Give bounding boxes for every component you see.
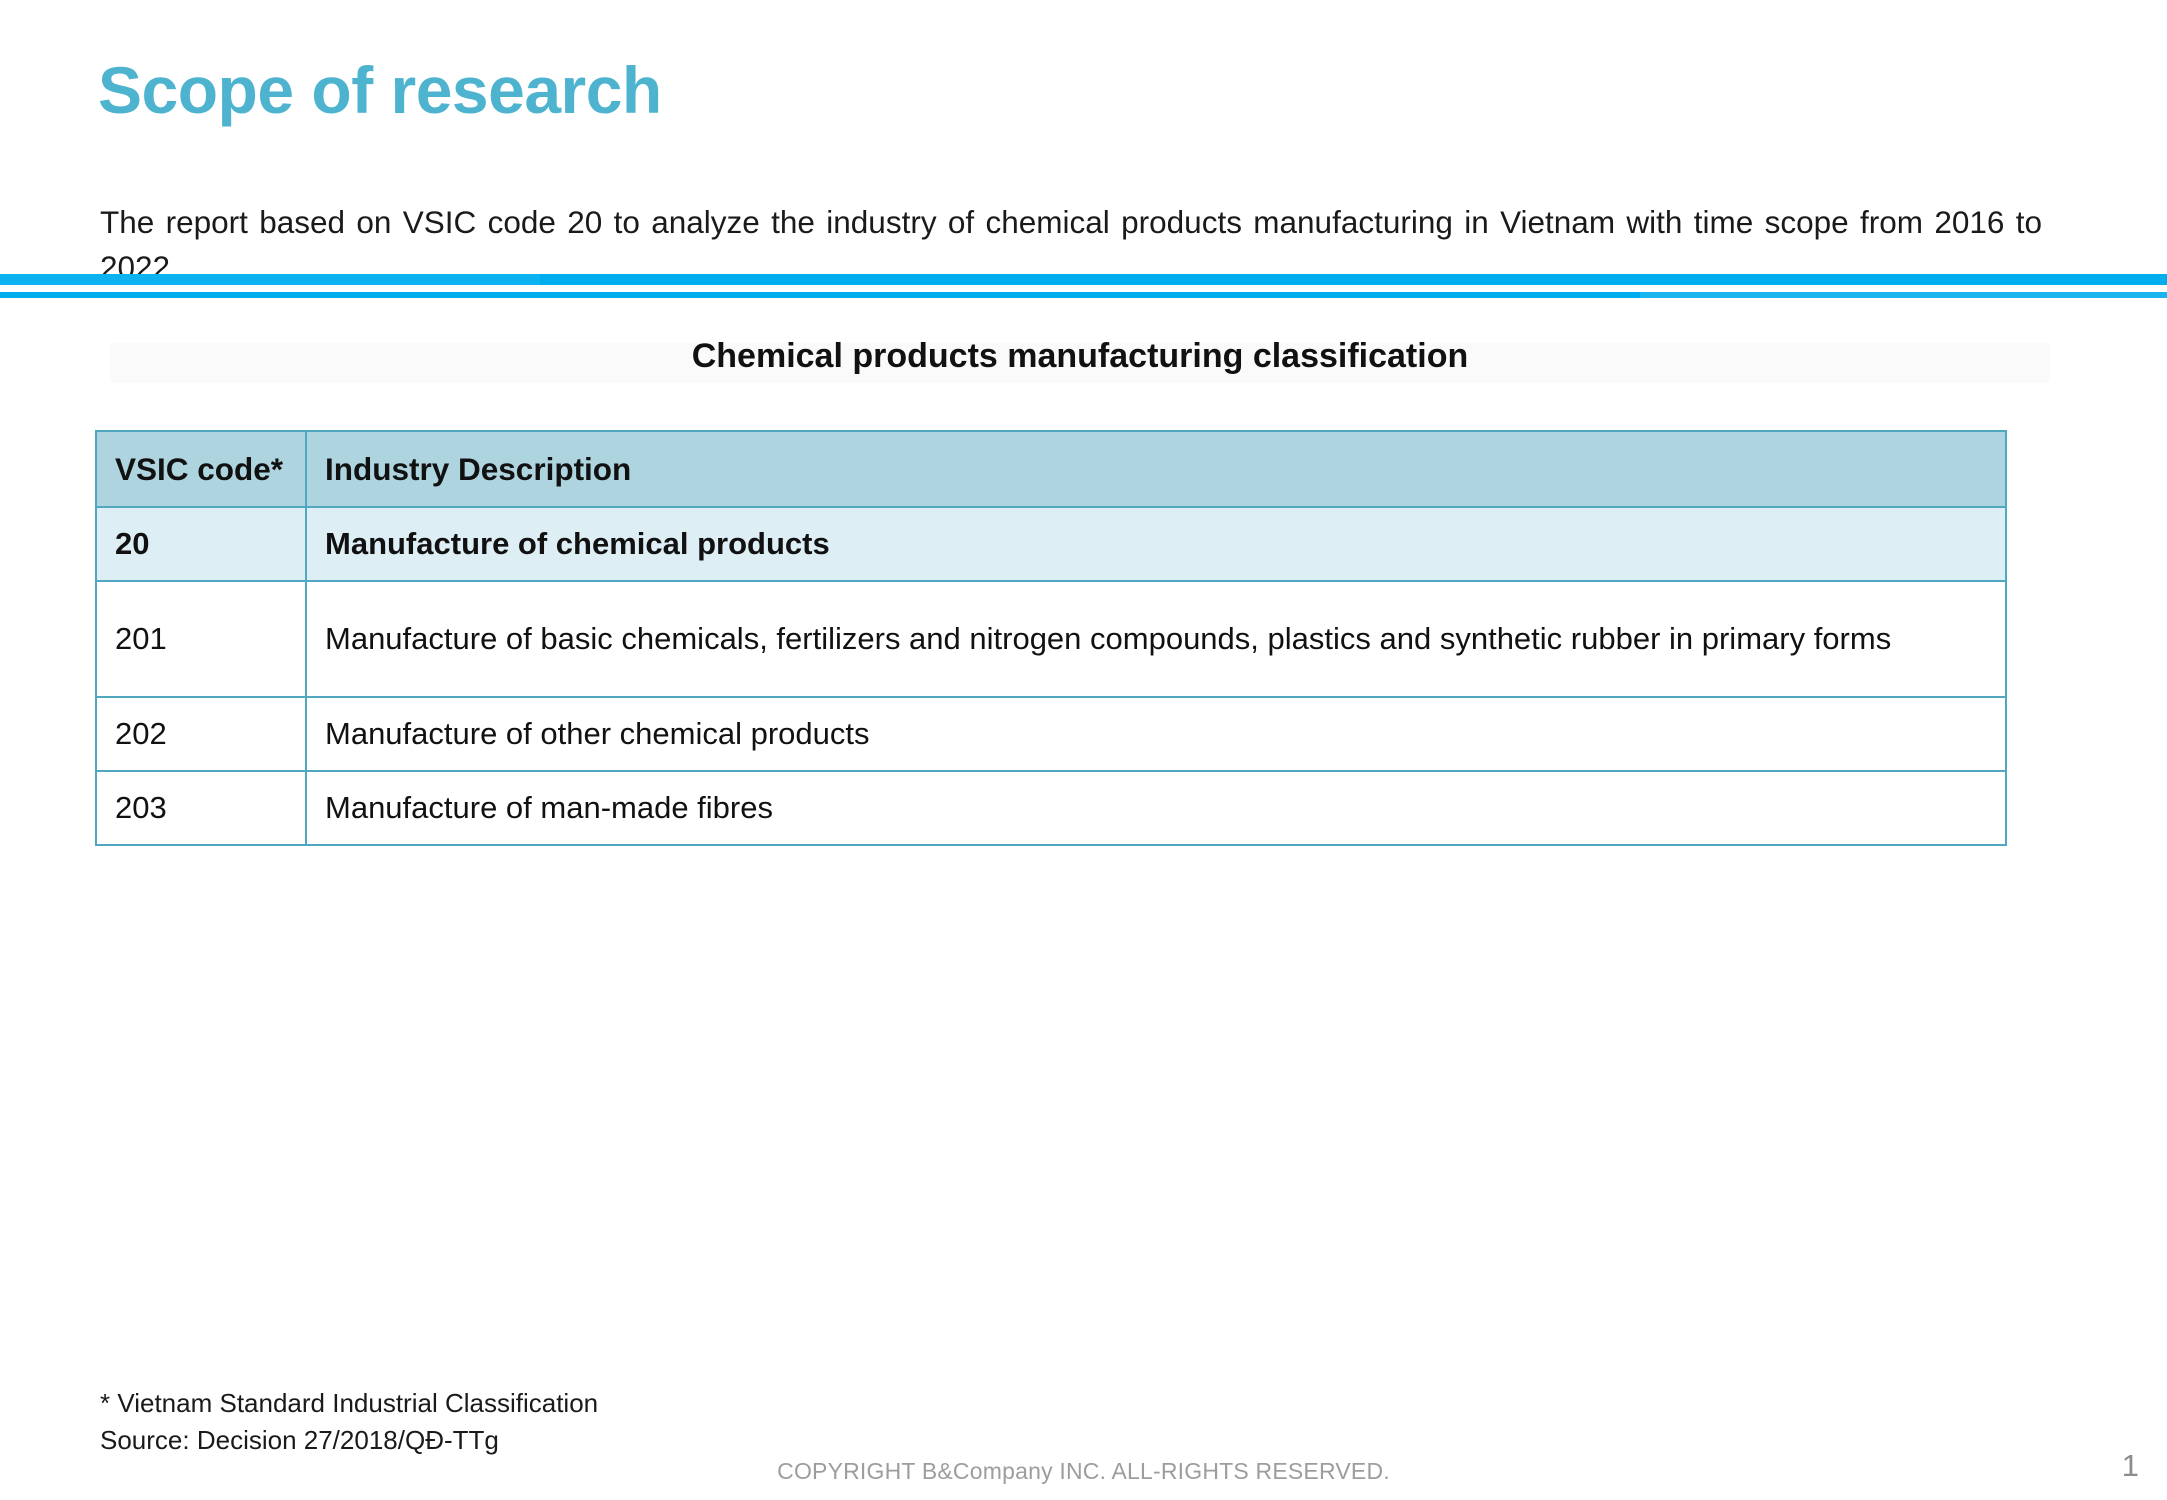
- page-title: Scope of research: [98, 52, 662, 130]
- divider-bar-primary-left-segment: [0, 274, 540, 285]
- classification-table: VSIC code* Industry Description 20 Manuf…: [95, 430, 2007, 846]
- footnotes: * Vietnam Standard Industrial Classifica…: [100, 1385, 598, 1459]
- cell-industry-description: Manufacture of other chemical products: [306, 697, 2006, 771]
- footnote-vsic-definition: * Vietnam Standard Industrial Classifica…: [100, 1385, 598, 1422]
- table-row: 203 Manufacture of man-made fibres: [96, 771, 2006, 845]
- page-number: 1: [2122, 1448, 2139, 1484]
- column-header-vsic-code: VSIC code*: [96, 431, 306, 507]
- cell-vsic-code: 203: [96, 771, 306, 845]
- classification-table-wrapper: VSIC code* Industry Description 20 Manuf…: [95, 430, 2007, 846]
- cell-vsic-code: 202: [96, 697, 306, 771]
- table-header-row: VSIC code* Industry Description: [96, 431, 2006, 507]
- footnote-source: Source: Decision 27/2018/QĐ-TTg: [100, 1422, 598, 1459]
- cell-industry-description: Manufacture of basic chemicals, fertiliz…: [306, 581, 2006, 697]
- column-header-industry-description: Industry Description: [306, 431, 2006, 507]
- header-divider: [0, 274, 2167, 300]
- slide-canvas: Scope of research The report based on VS…: [0, 0, 2167, 1500]
- cell-industry-description: Manufacture of chemical products: [306, 507, 2006, 581]
- table-row: 202 Manufacture of other chemical produc…: [96, 697, 2006, 771]
- cell-industry-description: Manufacture of man-made fibres: [306, 771, 2006, 845]
- table-row: 201 Manufacture of basic chemicals, fert…: [96, 581, 2006, 697]
- cell-vsic-code: 20: [96, 507, 306, 581]
- cell-vsic-code: 201: [96, 581, 306, 697]
- section-heading: Chemical products manufacturing classifi…: [110, 334, 2050, 380]
- table-row: 20 Manufacture of chemical products: [96, 507, 2006, 581]
- copyright-notice: COPYRIGHT B&Company INC. ALL-RIGHTS RESE…: [0, 1458, 2167, 1485]
- divider-bar-secondary-left-segment: [0, 292, 1640, 298]
